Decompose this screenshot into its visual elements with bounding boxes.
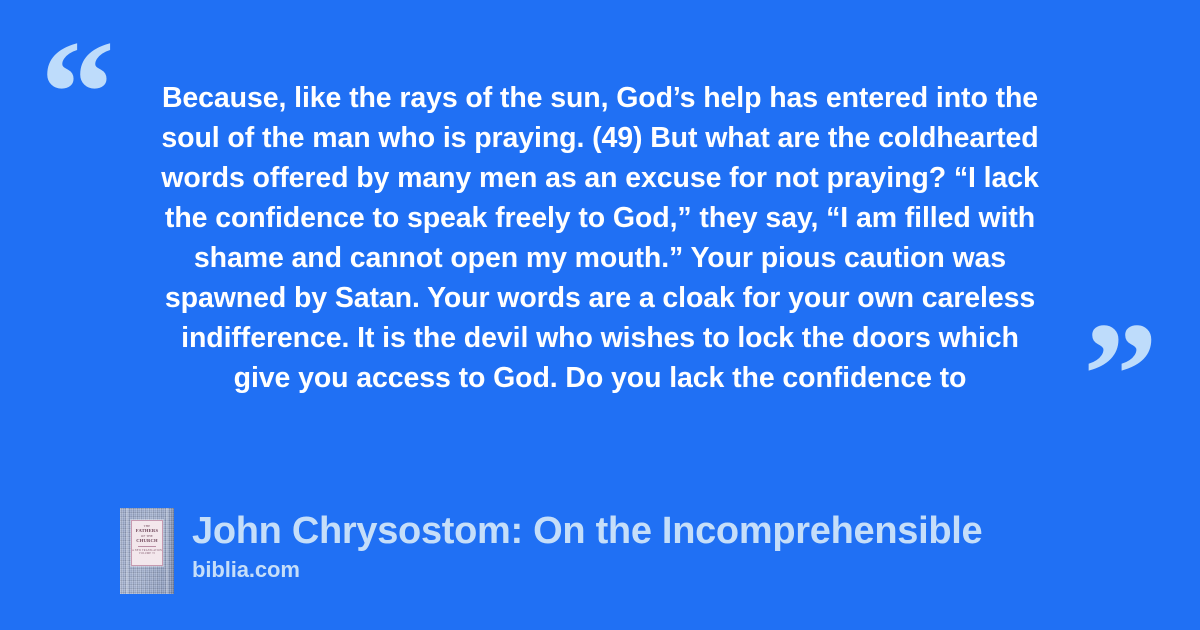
cover-label-line-4: CHURCH [136, 538, 158, 544]
quote-line: shame and cannot open my mouth.” Your pi… [118, 238, 1082, 278]
attribution-text: John Chrysostom: On the Incomprehensible… [192, 508, 982, 584]
cover-label-divider [138, 546, 155, 547]
quote-line: Because, like the rays of the sun, God’s… [118, 78, 1082, 118]
quote-text: Because, like the rays of the sun, God’s… [118, 78, 1082, 398]
quote-line: indifference. It is the devil who wishes… [118, 318, 1082, 358]
quote-line: soul of the man who is praying. (49) But… [118, 118, 1082, 158]
cover-spine-line-left [126, 508, 128, 594]
book-cover-thumbnail: THE FATHERS OF THE CHURCH A NEW TRANSLAT… [120, 508, 174, 594]
closing-quote-mark: ” [1083, 300, 1156, 450]
cover-spine-line-right [166, 508, 168, 594]
opening-quote-mark: “ [40, 18, 113, 168]
quote-card: “ ” Because, like the rays of the sun, G… [0, 0, 1200, 630]
quote-line: give you access to God. Do you lack the … [118, 358, 1082, 398]
cover-label-line-6: VOLUME 72 [139, 552, 155, 555]
book-cover-label: THE FATHERS OF THE CHURCH A NEW TRANSLAT… [131, 520, 163, 566]
book-title: John Chrysostom: On the Incomprehensible [192, 508, 982, 554]
attribution-footer: THE FATHERS OF THE CHURCH A NEW TRANSLAT… [120, 508, 982, 594]
quote-line: spawned by Satan. Your words are a cloak… [118, 278, 1082, 318]
quote-line: words offered by many men as an excuse f… [118, 158, 1082, 198]
site-name: biblia.com [192, 556, 982, 584]
quote-line: the confidence to speak freely to God,” … [118, 198, 1082, 238]
